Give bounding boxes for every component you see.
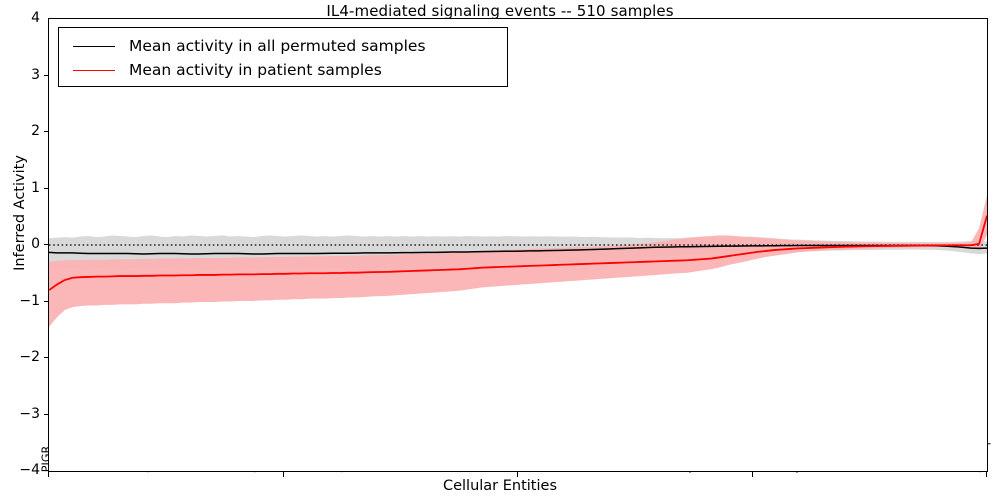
- chart-figure: IL4-mediated signaling events -- 510 sam…: [0, 0, 1000, 500]
- legend-line-permuted: [73, 46, 115, 47]
- legend-line-patient: [73, 70, 115, 71]
- legend-label-permuted: Mean activity in all permuted samples: [129, 37, 426, 55]
- x-tick-mark: [283, 472, 284, 477]
- x-tick-mark: [517, 472, 518, 477]
- legend-entry-patient: Mean activity in patient samples: [67, 58, 499, 82]
- legend: Mean activity in all permuted samples Me…: [58, 27, 508, 87]
- legend-entry-permuted: Mean activity in all permuted samples: [67, 34, 499, 58]
- patient-band: [49, 195, 987, 327]
- x-tick-mark: [48, 472, 49, 477]
- legend-label-patient: Mean activity in patient samples: [129, 61, 382, 79]
- x-tick-mark: [752, 472, 753, 477]
- x-tick-mark: [986, 472, 987, 477]
